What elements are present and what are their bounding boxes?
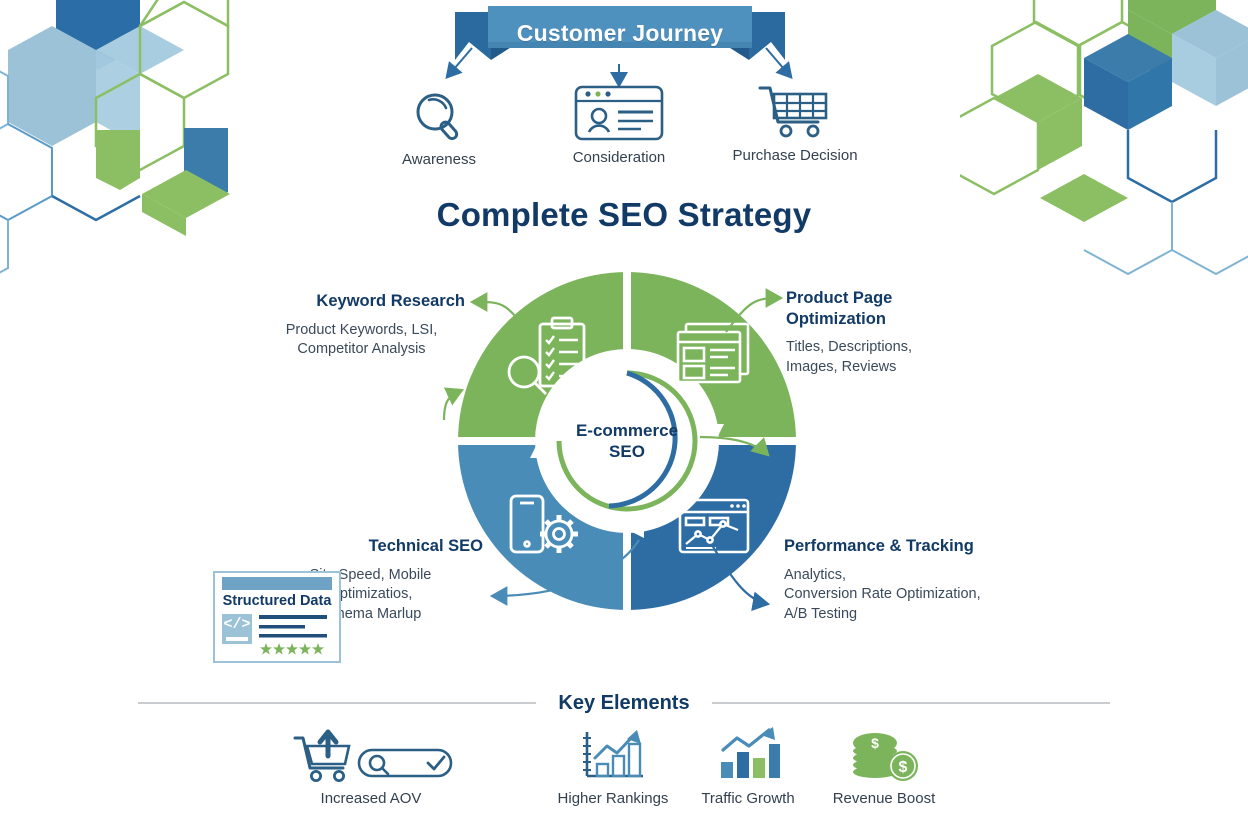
key-elements-title: Key Elements — [558, 692, 689, 715]
callout-performance-tracking[interactable]: Performance & Tracking Analytics, Conver… — [784, 536, 1034, 624]
svg-text:$: $ — [871, 735, 879, 751]
magnifier-icon — [354, 86, 524, 144]
journey-step-label: Consideration — [534, 149, 704, 166]
coin-stack-icon: $ $ — [798, 724, 970, 784]
structured-data-title: Structured Data — [213, 593, 341, 609]
cart-search-icon — [285, 724, 457, 784]
hexagon-pattern-left — [0, 0, 260, 300]
infographic-canvas: Customer Journey Awareness — [0, 0, 1248, 832]
callout-title: Technical SEO — [258, 536, 483, 557]
callout-description: Product Keywords, LSI, Competitor Analys… — [250, 321, 465, 360]
customer-journey-banner: Customer Journey — [455, 2, 785, 64]
callout-title: Performance & Tracking — [784, 536, 1034, 557]
journey-step-label: Purchase Decision — [710, 147, 880, 164]
svg-text:$: $ — [899, 759, 908, 776]
callout-keyword-research[interactable]: Keyword Research Product Keywords, LSI, … — [250, 291, 465, 360]
browser-profile-icon — [534, 84, 704, 142]
key-element-revenue-boost[interactable]: $ $ Revenue Boost — [798, 724, 970, 807]
key-element-label: Revenue Boost — [798, 790, 970, 807]
callout-title: Product Page Optimization — [786, 288, 1016, 329]
key-elements-row: Increased AOV — [0, 724, 1248, 824]
customer-journey-steps: Awareness Consideration — [370, 78, 890, 168]
callout-title: Keyword Research — [250, 291, 465, 312]
seo-cycle-donut — [458, 272, 796, 610]
callout-description: Titles, Descriptions, Images, Reviews — [786, 338, 1016, 377]
journey-step-purchase-decision[interactable]: Purchase Decision — [710, 82, 880, 164]
banner-title: Customer Journey — [455, 2, 785, 64]
key-element-increased-aov[interactable]: Increased AOV — [285, 724, 457, 807]
journey-step-label: Awareness — [354, 151, 524, 168]
journey-step-awareness[interactable]: Awareness — [354, 86, 524, 168]
structured-data-card[interactable]: Structured Data </> — [213, 571, 341, 663]
journey-step-consideration[interactable]: Consideration — [534, 84, 704, 166]
page-layout-icon — [678, 324, 748, 382]
code-glyph: </> — [222, 616, 252, 633]
callout-product-page-optimization[interactable]: Product Page Optimization Titles, Descri… — [786, 288, 1016, 377]
page-title: Complete SEO Strategy — [0, 196, 1248, 234]
hexagon-pattern-right — [960, 0, 1248, 300]
shopping-cart-icon — [710, 82, 880, 140]
callout-description: Analytics, Conversion Rate Optimization,… — [784, 566, 1034, 625]
divider-left — [138, 702, 536, 704]
key-elements-header: Key Elements — [0, 688, 1248, 718]
key-element-label: Increased AOV — [285, 790, 457, 807]
divider-right — [712, 702, 1110, 704]
